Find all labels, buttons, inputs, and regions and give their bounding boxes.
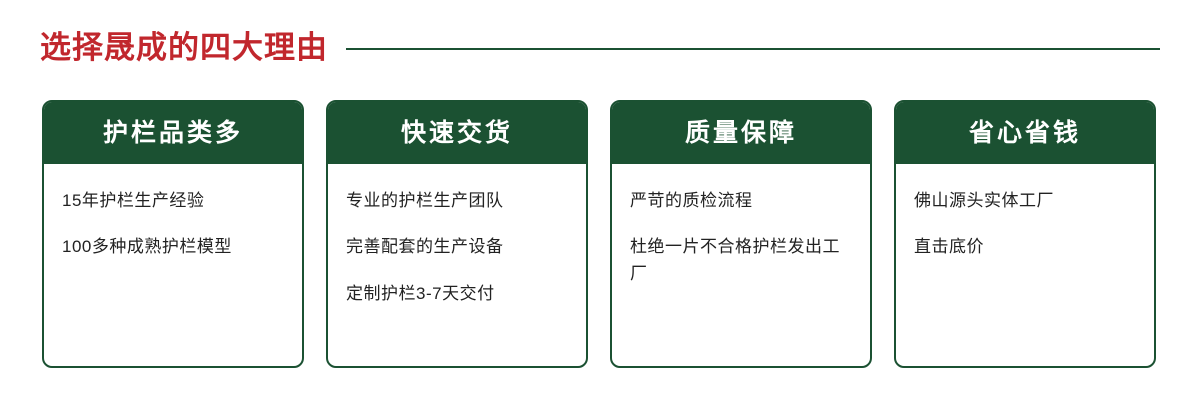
reason-card-4-title: 省心省钱 — [969, 121, 1081, 146]
reason-card-4-header: 省心省钱 — [896, 102, 1154, 164]
page-title: 选择晟成的四大理由 — [40, 32, 328, 63]
reason-card-3-body: 严苛的质检流程 杜绝一片不合格护栏发出工厂 — [612, 164, 870, 366]
reason-card-1-line-2: 100多种成熟护栏模型 — [62, 234, 286, 260]
reason-card-3-line-2: 杜绝一片不合格护栏发出工厂 — [630, 234, 854, 287]
reason-card-3-header: 质量保障 — [612, 102, 870, 164]
reason-card-2-line-2: 完善配套的生产设备 — [346, 234, 570, 260]
reason-card-1: 护栏品类多 15年护栏生产经验 100多种成熟护栏模型 — [42, 100, 304, 368]
reason-card-3: 质量保障 严苛的质检流程 杜绝一片不合格护栏发出工厂 — [610, 100, 872, 368]
reason-card-3-line-1: 严苛的质检流程 — [630, 188, 854, 214]
reason-card-1-body: 15年护栏生产经验 100多种成熟护栏模型 — [44, 164, 302, 366]
reason-card-4-line-2: 直击底价 — [914, 234, 1138, 260]
reason-card-4-line-1: 佛山源头实体工厂 — [914, 188, 1138, 214]
section-header: 选择晟成的四大理由 — [40, 22, 1160, 72]
reason-card-2-line-1: 专业的护栏生产团队 — [346, 188, 570, 214]
header-divider-rule — [346, 48, 1160, 50]
reason-card-3-title: 质量保障 — [685, 121, 797, 146]
reason-card-2-body: 专业的护栏生产团队 完善配套的生产设备 定制护栏3-7天交付 — [328, 164, 586, 366]
reason-card-2: 快速交货 专业的护栏生产团队 完善配套的生产设备 定制护栏3-7天交付 — [326, 100, 588, 368]
reasons-card-list: 护栏品类多 15年护栏生产经验 100多种成熟护栏模型 快速交货 专业的护栏生产… — [42, 100, 1160, 368]
promo-banner: 选择晟成的四大理由 护栏品类多 15年护栏生产经验 100多种成熟护栏模型 快速… — [0, 0, 1200, 400]
reason-card-4-body: 佛山源头实体工厂 直击底价 — [896, 164, 1154, 366]
reason-card-2-line-3: 定制护栏3-7天交付 — [346, 281, 570, 307]
reason-card-2-title: 快速交货 — [401, 121, 513, 146]
reason-card-1-title: 护栏品类多 — [103, 121, 243, 146]
reason-card-1-header: 护栏品类多 — [44, 102, 302, 164]
reason-card-4: 省心省钱 佛山源头实体工厂 直击底价 — [894, 100, 1156, 368]
reason-card-1-line-1: 15年护栏生产经验 — [62, 188, 286, 214]
reason-card-2-header: 快速交货 — [328, 102, 586, 164]
